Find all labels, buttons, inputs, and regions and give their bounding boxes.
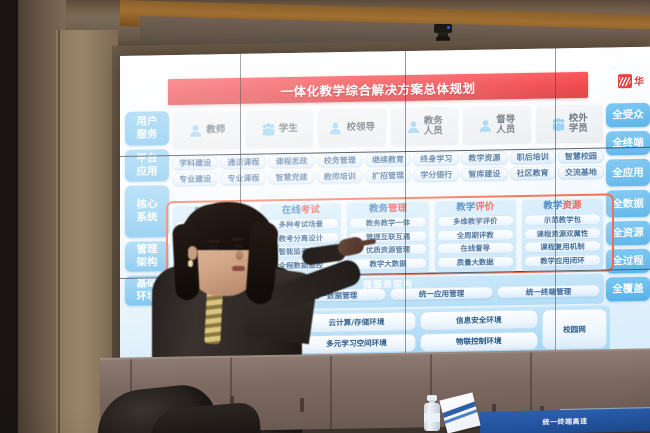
user-role-label: 教务人员 [424, 116, 443, 136]
base-environment-item: 信息安全环境 [420, 310, 538, 331]
layer-label-1: 用户服务 [125, 111, 169, 146]
platform-application-row: 学科建设专业建设通识课程专业课程课程思政智慧党建校务管理教师培训继续教育扩招管理… [172, 150, 604, 187]
core-system-item: 课程资源双属性 [524, 227, 601, 239]
platform-app-column: 智慧校园交流基地 [558, 150, 604, 180]
platform-app-pill: 专业建设 [172, 172, 218, 186]
hair-side-left [172, 223, 200, 300]
layer-label-2: 平台应用 [125, 149, 169, 182]
user-role-label: 学生 [279, 124, 298, 134]
core-system-item: 多维教学评价 [437, 215, 514, 227]
person-icon [478, 118, 493, 133]
core-system-item: 教务教学一体 [349, 217, 426, 229]
ear [188, 246, 197, 260]
cabinet-handle[interactable] [300, 398, 304, 412]
platform-app-column: 校务管理教师培训 [317, 154, 363, 184]
core-system-item: 全周期评教 [437, 229, 514, 241]
water-bottle [424, 395, 440, 431]
core-system-column: 教学评价多维教学评价全周期评教在线督导质量大数据 [434, 199, 517, 273]
panel-seam [555, 48, 556, 360]
user-role-label: 校领导 [346, 123, 375, 133]
slide-title-banner: 一体化教学综合解决方案总体规划 [168, 72, 588, 105]
coverage-label-3: 全应用 [606, 159, 650, 187]
core-system-item: 示范教学包 [524, 214, 601, 226]
earring [188, 260, 193, 267]
user-role-card: 校外学员 [535, 104, 605, 145]
user-role-card: 教师 [172, 110, 242, 151]
platform-app-pill: 专业课程 [220, 171, 266, 185]
core-system-heading: 教务管理 [349, 203, 426, 216]
platform-app-pill: 课程思政 [268, 155, 314, 169]
platform-app-column: 职后培训社区教育 [510, 150, 556, 180]
platform-app-column: 学科建设专业建设 [172, 156, 218, 186]
user-service-row: 教师学生校领导教务人员督导人员校外学员 [172, 104, 604, 152]
logo-text: 华 [634, 73, 644, 88]
person-icon [188, 123, 203, 138]
user-role-label: 督导人员 [496, 115, 515, 135]
group-icon [551, 117, 566, 132]
platform-app-pill: 教师培训 [317, 170, 363, 184]
logo-mark-icon [618, 74, 632, 88]
core-system-heading: 教学评价 [437, 201, 514, 214]
coverage-label-2: 全终端 [606, 131, 650, 156]
brand-logo: 华 [618, 73, 644, 88]
user-role-card: 督导人员 [462, 105, 532, 146]
platform-app-pill: 学分银行 [413, 168, 459, 182]
core-system-item: 在线督导 [437, 242, 514, 254]
user-role-card: 学生 [245, 109, 315, 150]
core-system-item: 质量大数据 [437, 256, 514, 268]
nose [236, 250, 243, 260]
core-system-item: 课程复用机制 [524, 241, 601, 253]
eye [209, 246, 218, 250]
platform-app-column: 通识课程专业课程 [220, 155, 266, 185]
left-dark-edge [0, 0, 18, 433]
person-icon [328, 121, 343, 136]
core-system-item: 教学大数据 [349, 257, 426, 269]
eye [234, 244, 243, 248]
platform-app-column: 终身学习学分银行 [413, 152, 459, 182]
base-environment-column: 信息安全环境物联控制环境 [420, 310, 538, 352]
microservice-item: 统一终端管理 [497, 285, 600, 299]
mouth [232, 266, 245, 271]
user-role-label: 教师 [206, 125, 225, 135]
user-role-card: 校领导 [317, 107, 387, 148]
platform-app-pill: 职后培训 [510, 150, 556, 164]
platform-app-pill: 智慧校园 [558, 150, 604, 164]
coverage-label-7: 全覆盖 [606, 277, 650, 302]
platform-app-pill: 终身学习 [413, 152, 459, 166]
core-system-heading: 教学资源 [524, 200, 601, 213]
platform-app-pill: 交流基地 [558, 166, 604, 180]
coverage-label-1: 全受众 [606, 103, 650, 128]
platform-app-pill: 学科建设 [172, 156, 218, 170]
table-banner: 统一终端高速 [480, 408, 650, 433]
platform-app-column: 课程思政智慧党建 [268, 155, 314, 185]
group-icon [261, 122, 276, 137]
platform-app-pill: 智慧党建 [268, 171, 314, 185]
core-system-column: 教学资源示范教学包课程资源双属性课程复用机制教学应用闭环 [521, 198, 604, 272]
banner-text: 统一终端高速 [543, 416, 588, 427]
person-icon [406, 119, 421, 134]
photo-scene: 一体化教学综合解决方案总体规划 华 用户服务平台应用核心系统管理架构基础环境 全… [0, 0, 650, 433]
platform-app-pill: 智库建设 [461, 167, 507, 181]
platform-app-column: 教学资源智库建设 [461, 151, 507, 181]
core-system-item: 教学应用闭环 [524, 254, 601, 266]
base-environment-item: 物联控制环境 [420, 331, 538, 352]
eyebrow [208, 240, 220, 243]
pillar-edge [58, 30, 60, 433]
eyebrow [232, 238, 244, 241]
platform-app-pill: 校务管理 [317, 154, 363, 168]
user-role-card: 教务人员 [390, 106, 460, 147]
platform-app-pill: 教学资源 [461, 151, 507, 165]
platform-app-pill: 通识课程 [220, 155, 266, 169]
platform-app-pill: 社区教育 [510, 166, 556, 180]
base-environment-item: 校园网 [542, 308, 607, 349]
page-title: 一体化教学综合解决方案总体规划 [280, 77, 475, 99]
panel-seam [405, 51, 406, 363]
user-role-label: 校外学员 [569, 114, 588, 134]
base-environment-column: 校园网 [542, 308, 607, 349]
